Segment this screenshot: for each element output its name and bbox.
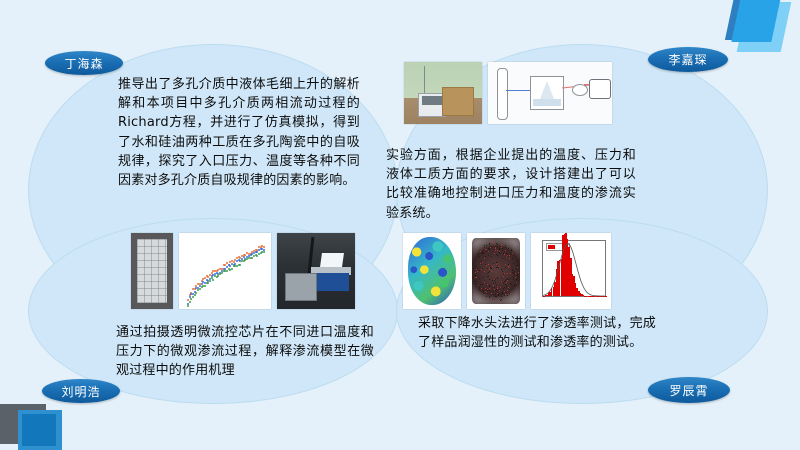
name-badge-bottom-left[interactable]: 刘明浩 [42,379,120,403]
network-node [488,272,489,273]
network-node [492,291,493,292]
test-section-icon [589,79,611,99]
network-node [497,277,498,278]
network-node [501,299,502,300]
network-node [475,272,476,273]
network-node [500,287,501,288]
network-node [487,276,488,277]
network-node [487,290,488,291]
network-node [491,256,492,257]
name-badge-top-right[interactable]: 李嘉琛 [648,47,728,72]
name-badge-bottom-right[interactable]: 罗辰霄 [648,377,730,403]
scatter-point [231,268,233,270]
network-node [514,285,515,286]
network-node [497,262,498,263]
network-node [487,273,488,274]
column-icon [497,68,508,120]
network-node [497,267,498,268]
network-node [501,296,502,297]
network-node [489,288,490,289]
network-node [518,272,519,273]
network-node [484,282,485,283]
network-node [489,285,490,286]
scatter-point [239,264,241,266]
network-node [494,287,495,288]
network-node [517,265,518,266]
scatter-point [221,272,223,274]
text-bottom-left: 通过拍摄透明微流控芯片在不同进口温度和压力下的微观渗流过程，解释渗流模型在微观过… [116,323,374,381]
figure-strip-top-right [404,62,612,124]
scatter-point [251,257,253,259]
text-top-left: 推导出了多孔介质中液体毛细上升的解析解和本项目中多孔介质两相流动过程的Richa… [118,75,360,190]
network-node [501,269,502,270]
network-node [496,285,497,286]
text-top-right: 实验方面，根据企业提出的温度、压力和液体工质方面的要求，设计搭建出了可以比较准确… [386,146,636,223]
network-node [486,296,487,297]
inlet-line-icon [506,90,531,91]
network-node [497,290,498,291]
network-node [482,262,483,263]
network-node [501,277,502,278]
scatter-point [199,288,201,290]
network-node [504,281,505,282]
network-node [490,268,491,269]
ct-pore-structure-map [403,233,461,309]
network-node [493,263,494,264]
network-node [499,252,500,253]
network-node [491,271,492,272]
network-node [507,273,508,274]
bottom-left-decoration [0,404,72,450]
network-node [512,269,513,270]
top-right-decoration [722,0,800,52]
lab-equipment-photo [404,62,482,124]
fitted-curve-icon [531,233,611,309]
seepage-scatter-plot [179,233,271,309]
blue-device-icon [317,273,349,291]
scatter-point [204,285,206,287]
scatter-point [207,282,209,284]
network-node [508,279,509,280]
network-node [483,253,484,254]
network-node [476,277,477,278]
network-node [505,267,506,268]
network-node [480,251,481,252]
scatter-point [226,270,228,272]
scatter-point [263,246,265,248]
network-node [517,275,518,276]
network-node [487,289,488,290]
network-node [497,255,498,256]
heated-flask-icon [530,76,564,110]
network-node [492,266,493,267]
name-badge-top-left[interactable]: 丁海森 [45,51,123,75]
network-node [491,299,492,300]
scatter-point [192,296,194,298]
scatter-point [187,305,189,307]
slide-canvas: 推导出了多孔介质中液体毛细上升的解析解和本项目中多孔介质两相流动过程的Richa… [0,0,800,450]
network-node [511,284,512,285]
network-node [502,248,503,249]
network-node [513,263,514,264]
network-node [483,277,484,278]
network-node [505,245,506,246]
network-node [502,244,503,245]
network-node [475,277,476,278]
metal-tray-icon [285,273,317,301]
network-node [503,274,504,275]
network-node [502,293,503,294]
network-node [489,286,490,287]
lamp-icon [320,253,344,267]
network-node [496,296,497,297]
network-node [486,265,487,266]
lab-bench-photo [277,233,355,309]
pore-network-model [467,233,525,309]
pore-radius-histogram [531,233,611,309]
network-node [489,296,490,297]
scatter-point [229,265,231,267]
figure-strip-bottom-left [131,233,355,309]
network-node [485,256,486,257]
network-node [494,280,495,281]
network-node [489,290,490,291]
network-node [504,287,505,288]
network-node [499,290,500,291]
network-node [504,273,505,274]
network-node [514,274,515,275]
figure-strip-bottom-right [403,233,611,309]
scatter-point [194,294,196,296]
network-node [499,248,500,249]
network-node [506,282,507,283]
network-node [484,258,485,259]
scatter-point [209,280,211,282]
network-node [486,249,487,250]
cardboard-box-icon [442,87,474,116]
text-bottom-right: 采取下降水头法进行了渗透率测试，完成了样品润湿性的测试和渗透率的测试。 [418,314,656,352]
network-node [516,279,517,280]
network-node [488,264,489,265]
network-node [497,286,498,287]
network-node [479,278,480,279]
network-node [507,295,508,296]
network-node [500,301,501,302]
network-node [480,263,481,264]
network-node [505,257,506,258]
network-node [489,297,490,298]
network-node [497,263,498,264]
network-node [503,283,504,284]
network-node [515,277,516,278]
scatter-point [212,279,214,281]
network-node [494,279,495,280]
square-deep-blue-icon [22,414,56,446]
network-node [492,299,493,300]
network-node [486,292,487,293]
network-node [506,286,507,287]
scatter-point [263,251,265,253]
network-node [501,245,502,246]
microfluidic-chip-photo [131,233,173,309]
network-node [487,284,488,285]
pore-colormap-icon [408,237,456,305]
network-node [477,271,478,272]
experiment-system-schematic [488,62,612,124]
network-node [482,284,483,285]
network-node [513,279,514,280]
scatter-point [195,292,197,294]
scatter-point [189,301,191,303]
valve-icon [572,84,588,96]
network-node [489,279,490,280]
